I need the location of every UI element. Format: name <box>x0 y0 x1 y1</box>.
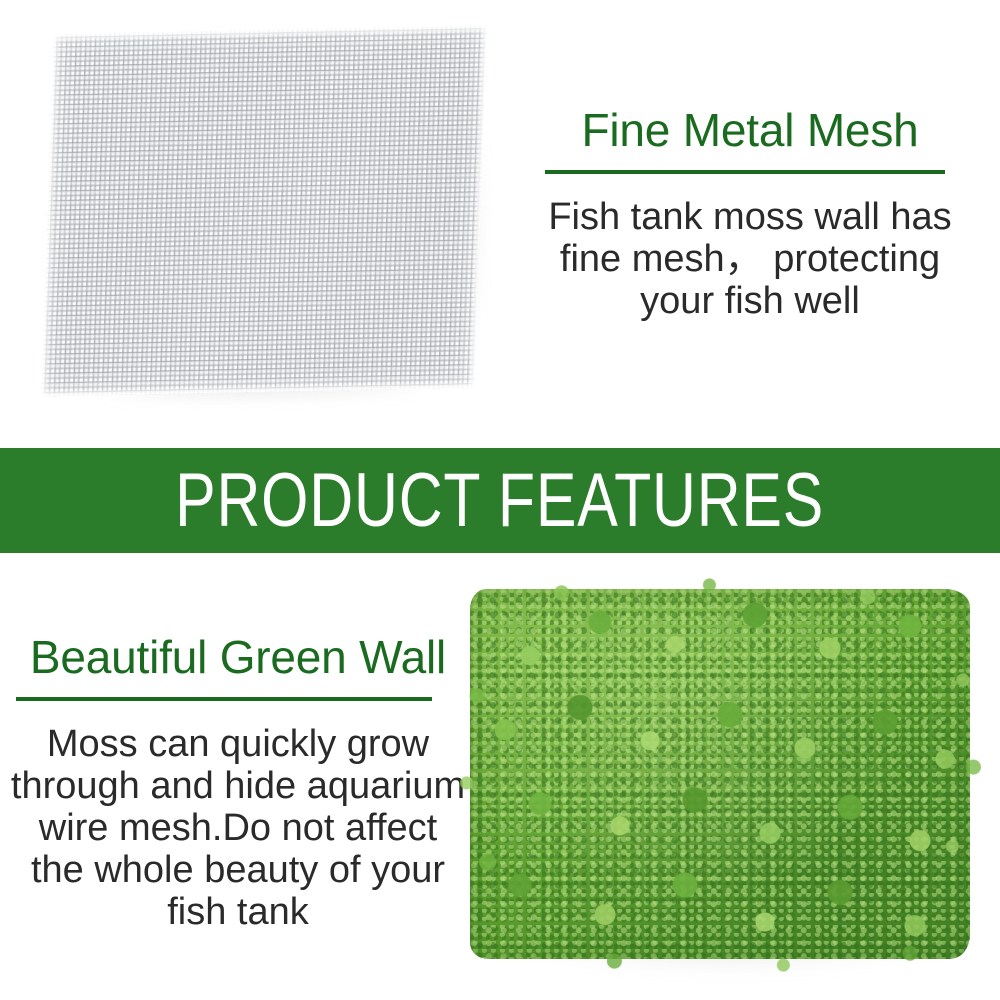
top-body-text: Fish tank moss wall has fine mesh， prote… <box>520 196 980 322</box>
top-body-line-3: your fish well <box>520 280 980 322</box>
product-features-banner: PRODUCT FEATURES <box>0 448 1000 553</box>
moss-foliage-texture <box>470 589 970 959</box>
top-feature-panel: Fine Metal Mesh Fish tank moss wall has … <box>0 0 1000 448</box>
product-feature-infographic: Fine Metal Mesh Fish tank moss wall has … <box>0 0 1000 1000</box>
mesh-weave-texture <box>41 26 486 397</box>
top-body-line-1: Fish tank moss wall has <box>520 196 980 238</box>
top-heading-underline <box>545 170 945 174</box>
bottom-heading: Beautiful Green Wall <box>8 631 468 683</box>
banner-title: PRODUCT FEATURES <box>175 463 824 539</box>
bottom-text-block: Beautiful Green Wall Moss can quickly gr… <box>8 631 468 933</box>
top-text-block: Fine Metal Mesh Fish tank moss wall has … <box>520 104 980 322</box>
top-body-line-2: fine mesh， protecting <box>520 238 980 280</box>
bottom-body-line-3: wire mesh.Do not affect <box>8 807 468 849</box>
bottom-body-text: Moss can quickly grow through and hide a… <box>8 723 468 933</box>
green-moss-mat-photo <box>452 575 992 987</box>
top-heading: Fine Metal Mesh <box>520 104 980 156</box>
bottom-body-line-1: Moss can quickly grow <box>8 723 468 765</box>
bottom-body-line-5: fish tank <box>8 891 468 933</box>
bottom-feature-panel: Beautiful Green Wall Moss can quickly gr… <box>0 553 1000 1000</box>
fine-metal-mesh-photo <box>40 24 490 402</box>
bottom-body-line-2: through and hide aquarium <box>8 765 468 807</box>
bottom-heading-underline <box>16 697 432 701</box>
bottom-body-line-4: the whole beauty of your <box>8 849 468 891</box>
